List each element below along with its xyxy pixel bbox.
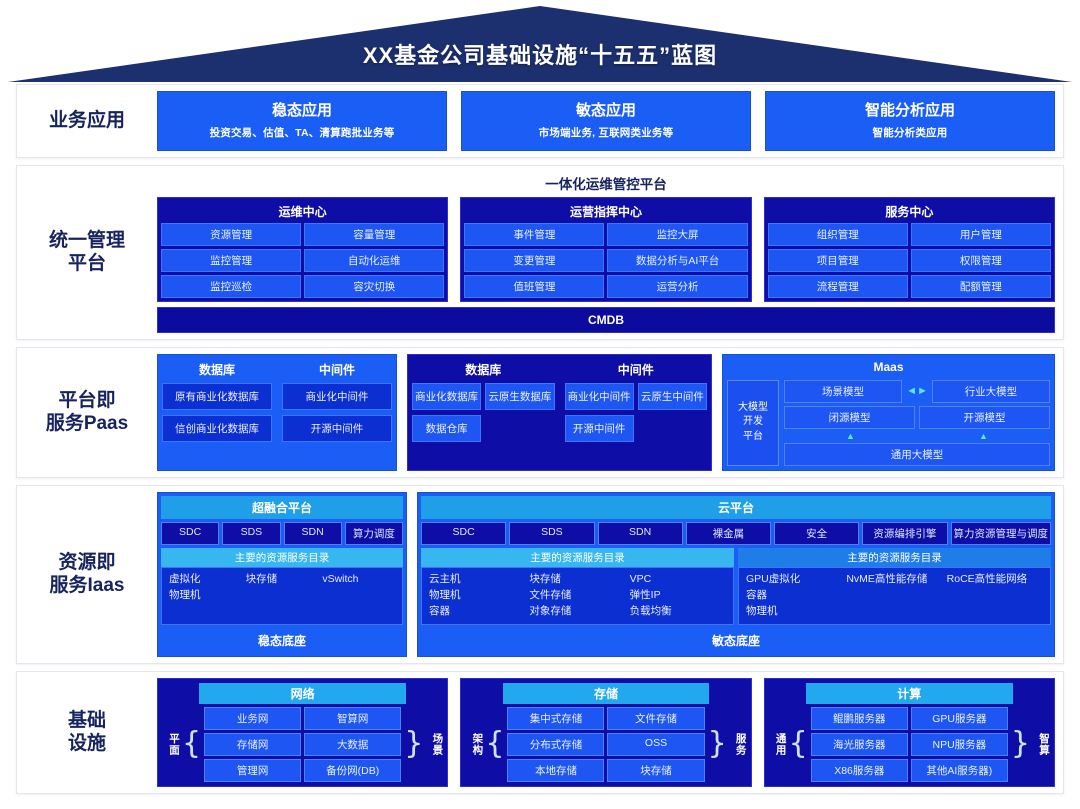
catalog-column: vSwitch [322,573,395,619]
paas-item-placeholder [638,415,707,442]
center-item[interactable]: 容量管理 [304,223,444,246]
blueprint-diagram: XX基金公司基础设施“十五五”蓝图 业务应用 稳态应用 投资交易、估值、TA、清… [0,0,1080,608]
capability-sds[interactable]: SDS [222,522,280,545]
row-unified-management: 统一管理 平台 一体化运维管控平台 运维中心 资源管理 容量管理 监控管理 自动… [16,165,1064,340]
app-card-stable[interactable]: 稳态应用 投资交易、估值、TA、清算跑批业务等 [157,91,447,151]
catalog-column: GPU虚拟化 容器 物理机 [746,573,842,619]
infra-right-label: 服务 [730,733,746,756]
right-brace-icon: } [1011,732,1030,757]
catalog-item[interactable]: 物理机 [746,605,842,618]
maas-dev-platform-line2: 开发 [738,415,768,430]
cloud-platform-header: 云平台 [421,496,1051,519]
capability-bare-metal[interactable]: 裸金属 [686,522,771,545]
catalog-item[interactable]: 云主机 [429,573,525,586]
paas-col-database-cloud: 数据库 商业化数据库 云原生数据库 数据仓库 [412,359,555,466]
catalog-item[interactable]: VPC [630,573,726,586]
paas-col-middleware: 中间件 商业化中间件 开源中间件 [282,359,392,466]
row-label-line1: 基础 [68,709,106,732]
infra-right-label: 场景 [426,733,442,756]
infra-box-compute: 计算 通用 { 鲲鹏服务器 GPU服务器 海光服务器 NPU服务器 X86服务器… [764,678,1055,787]
infra-item[interactable]: 分布式存储 [507,733,604,756]
center-item[interactable]: 权限管理 [911,249,1051,272]
left-brace-icon: { [182,732,201,757]
paas-col-middleware-cloud: 中间件 商业化中间件 云原生中间件 开源中间件 [565,359,708,466]
app-card-intelligent-analysis[interactable]: 智能分析应用 智能分析类应用 [765,91,1055,151]
infra-item[interactable]: NPU服务器 [911,733,1008,756]
paas-item[interactable]: 开源中间件 [565,415,634,442]
catalog-column: NvME高性能存储 [846,573,942,619]
hyperconverged-header: 超融合平台 [161,496,403,519]
app-card-title: 稳态应用 [164,101,440,121]
row-label-infrastructure: 基础 设施 [17,672,157,793]
paas-item[interactable]: 开源中间件 [282,415,392,442]
row-label-line1: 平台即 [46,389,128,412]
agile-catalog-left: 主要的资源服务目录 云主机 物理机 容器 块存储 文 [421,548,734,625]
paas-item-placeholder [485,415,554,442]
catalog-column: 块存储 文件存储 对象存储 [529,573,625,619]
center-item[interactable]: 数据分析与AI平台 [607,249,747,272]
paas-item[interactable]: 商业化数据库 [412,383,481,410]
infra-box-network: 网络 平面 { 业务网 智算网 存储网 大数据 管理网 备份网(DB) [157,678,448,787]
row-iaas: 资源即 服务Iaas 超融合平台 SDC SDS SDN 算力调度 [16,485,1064,664]
paas-group-agile: 数据库 商业化数据库 云原生数据库 数据仓库 [407,354,712,471]
infra-item[interactable]: X86服务器 [811,759,908,782]
maas-item-closed-source[interactable]: 闭源模型 [784,406,915,429]
infra-item[interactable]: 备份网(DB) [304,759,401,782]
row-label-paas: 平台即 服务Paas [17,348,157,477]
right-brace-icon: } [708,732,727,757]
catalog-column: 虚拟化 物理机 [169,573,242,619]
catalog-title: 主要的资源服务目录 [738,548,1051,567]
app-card-subtitle: 投资交易、估值、TA、清算跑批业务等 [164,125,440,140]
catalog-item[interactable]: 负载均衡 [630,605,726,618]
app-card-subtitle: 市场端业务, 互联网类业务等 [468,125,744,140]
capability-orchestration-engine[interactable]: 资源编排引擎 [862,522,947,545]
maas-item-industry-model[interactable]: 行业大模型 [932,380,1050,403]
catalog-item[interactable]: 容器 [746,589,842,602]
catalog-title: 主要的资源服务目录 [421,548,734,567]
infra-item[interactable]: 集中式存储 [507,707,604,730]
center-item[interactable]: 监控管理 [161,249,301,272]
paas-col-header: 数据库 [412,359,555,383]
center-item[interactable]: 变更管理 [464,249,604,272]
center-item[interactable]: 监控巡检 [161,275,301,298]
infra-item[interactable]: 本地存储 [507,759,604,782]
capability-compute-resource-mgmt[interactable]: 算力资源管理与调度 [951,522,1052,545]
maas-header: Maas [727,359,1050,377]
center-title: 运营指挥中心 [464,201,747,223]
catalog-column: 云主机 物理机 容器 [429,573,525,619]
catalog-title: 主要的资源服务目录 [161,548,403,567]
paas-item[interactable]: 信创商业化数据库 [162,415,272,442]
catalog-column: VPC 弹性IP 负载均衡 [630,573,726,619]
maas-item-general-model[interactable]: 通用大模型 [784,443,1050,466]
capability-sds[interactable]: SDS [509,522,594,545]
catalog-item[interactable]: 物理机 [429,589,525,602]
catalog-item[interactable]: 对象存储 [529,605,625,618]
catalog-item[interactable]: 弹性IP [630,589,726,602]
paas-group-stable: 数据库 原有商业化数据库 信创商业化数据库 中间件 商业化中间件 开源中间件 [157,354,397,471]
row-label-management: 统一管理 平台 [17,166,157,339]
bidirectional-arrow-icon: ◄► [906,386,928,397]
center-item[interactable]: 事件管理 [464,223,604,246]
arrow-up-icon: ▲ [846,432,855,440]
row-label-business: 业务应用 [17,85,157,157]
paas-item[interactable]: 云原生数据库 [485,383,554,410]
page-title: XX基金公司基础设施“十五五”蓝图 [0,38,1080,70]
center-operation-command: 运营指挥中心 事件管理 监控大屏 变更管理 数据分析与AI平台 值班管理 运营分… [460,197,751,302]
center-title: 服务中心 [768,201,1051,223]
app-card-subtitle: 智能分析类应用 [772,125,1048,140]
row-label-line2: 服务Iaas [50,574,125,597]
row-infrastructure: 基础 设施 网络 平面 { 业务网 智算网 [16,671,1064,794]
catalog-body: 虚拟化 物理机 块存储 vSwitch [161,567,403,625]
center-item[interactable]: 值班管理 [464,275,604,298]
maas-item-open-source[interactable]: 开源模型 [919,406,1050,429]
catalog-body: 云主机 物理机 容器 块存储 文件存储 对象存储 [421,567,734,625]
catalog-item[interactable]: 虚拟化 [169,573,242,586]
paas-group-maas: Maas 大模型 开发 平台 场景模型 [722,354,1055,471]
catalog-column: RoCE高性能网络 [947,573,1043,619]
maas-dev-platform-line1: 大模型 [738,401,768,416]
infra-item[interactable]: 其他AI服务器) [911,759,1008,782]
infra-item[interactable]: 文件存储 [607,707,704,730]
right-brace-icon: } [404,732,423,757]
infra-item[interactable]: 大数据 [304,733,401,756]
catalog-item[interactable]: NvME高性能存储 [846,573,942,586]
infra-left-label: 通用 [770,733,786,756]
app-card-title: 敏态应用 [468,101,744,121]
row-label-line2: 平台 [49,252,125,275]
infra-header: 网络 [199,683,406,704]
catalog-body: GPU虚拟化 容器 物理机 NvME高性能存储 RoCE高性能网络 [738,567,1051,625]
row-label-iaas: 资源即 服务Iaas [17,486,157,663]
row-label-line2: 设施 [68,732,106,755]
infra-item[interactable]: 智算网 [304,707,401,730]
center-item[interactable]: 流程管理 [768,275,908,298]
capability-compute-scheduling[interactable]: 算力调度 [345,522,403,545]
center-item[interactable]: 运营分析 [607,275,747,298]
stable-base-label: 稳态底座 [161,628,403,653]
infra-item[interactable]: 管理网 [204,759,301,782]
capability-security[interactable]: 安全 [774,522,859,545]
infra-header: 存储 [503,683,710,704]
capability-sdn[interactable]: SDN [598,522,683,545]
center-title: 运维中心 [161,201,444,223]
maas-item-scene-model[interactable]: 场景模型 [784,380,902,403]
agile-base-label: 敏态底座 [421,628,1051,653]
row-label-line2: 服务Paas [46,412,128,435]
infra-item[interactable]: GPU服务器 [911,707,1008,730]
paas-item[interactable]: 商业化中间件 [565,383,634,410]
app-card-title: 智能分析应用 [772,101,1048,121]
row-business-application: 业务应用 稳态应用 投资交易、估值、TA、清算跑批业务等 敏态应用 市场端业务,… [16,84,1064,158]
integrated-platform-title: 一体化运维管控平台 [157,173,1055,193]
iaas-agile-stack: 云平台 SDC SDS SDN 裸金属 安全 资源编排引擎 算力资源管理与调度 [417,492,1055,657]
paas-item[interactable]: 商业化中间件 [282,383,392,410]
infra-item[interactable]: 鲲鹏服务器 [811,707,908,730]
paas-item[interactable]: 数据仓库 [412,415,481,442]
center-item[interactable]: 自动化运维 [304,249,444,272]
catalog-item[interactable]: RoCE高性能网络 [947,573,1043,586]
left-brace-icon: { [485,732,504,757]
infra-left-label: 架构 [466,733,482,756]
catalog-item[interactable]: vSwitch [322,573,395,586]
row-label-line1: 资源即 [50,551,125,574]
row-paas: 平台即 服务Paas 数据库 原有商业化数据库 信创商业化数据库 [16,347,1064,478]
paas-col-header: 数据库 [162,359,272,383]
agile-catalog-right: 主要的资源服务目录 GPU虚拟化 容器 物理机 NvME高性能存储 [738,548,1051,625]
maas-dev-platform[interactable]: 大模型 开发 平台 [727,380,779,466]
capability-sdn[interactable]: SDN [284,522,342,545]
iaas-stable-stack: 超融合平台 SDC SDS SDN 算力调度 主要的资源服务目录 虚拟化 物理机 [157,492,407,657]
capability-sdc[interactable]: SDC [421,522,506,545]
catalog-item[interactable]: GPU虚拟化 [746,573,842,586]
arrow-up-icon: ▲ [979,432,988,440]
center-item[interactable]: 配额管理 [911,275,1051,298]
center-item[interactable]: 资源管理 [161,223,301,246]
maas-dev-platform-line3: 平台 [738,430,768,445]
center-item[interactable]: 容灾切换 [304,275,444,298]
infra-left-label: 平面 [163,733,179,756]
paas-col-database: 数据库 原有商业化数据库 信创商业化数据库 [162,359,272,466]
catalog-item[interactable]: 块存储 [246,573,319,586]
row-label-line1: 统一管理 [49,229,125,252]
center-item[interactable]: 组织管理 [768,223,908,246]
catalog-item[interactable]: 物理机 [169,589,242,602]
left-brace-icon: { [789,732,808,757]
infra-item[interactable]: 海光服务器 [811,733,908,756]
center-item[interactable]: 项目管理 [768,249,908,272]
infra-item[interactable]: OSS [607,733,704,756]
paas-item[interactable]: 原有商业化数据库 [162,383,272,410]
center-service: 服务中心 组织管理 用户管理 项目管理 权限管理 流程管理 配额管理 [764,197,1055,302]
infra-right-label: 智算 [1033,733,1049,756]
center-item[interactable]: 用户管理 [911,223,1051,246]
infra-item[interactable]: 存储网 [204,733,301,756]
capability-sdc[interactable]: SDC [161,522,219,545]
cmdb-bar[interactable]: CMDB [157,307,1055,333]
infra-header: 计算 [806,683,1013,704]
infra-box-storage: 存储 架构 { 集中式存储 文件存储 分布式存储 OSS 本地存储 块存储 [460,678,751,787]
app-card-agile[interactable]: 敏态应用 市场端业务, 互联网类业务等 [461,91,751,151]
catalog-item[interactable]: 容器 [429,605,525,618]
up-arrows-group: ▲ ▲ [784,432,1050,440]
catalog-column: 块存储 [246,573,319,619]
catalog-item[interactable]: 文件存储 [529,589,625,602]
center-item[interactable]: 监控大屏 [607,223,747,246]
catalog-item[interactable]: 块存储 [529,573,625,586]
infra-item[interactable]: 块存储 [607,759,704,782]
paas-col-header: 中间件 [282,359,392,383]
center-ops: 运维中心 资源管理 容量管理 监控管理 自动化运维 监控巡检 容灾切换 [157,197,448,302]
paas-col-header: 中间件 [565,359,708,383]
roof-banner: XX基金公司基础设施“十五五”蓝图 [0,0,1080,84]
infra-item[interactable]: 业务网 [204,707,301,730]
paas-item[interactable]: 云原生中间件 [638,383,707,410]
